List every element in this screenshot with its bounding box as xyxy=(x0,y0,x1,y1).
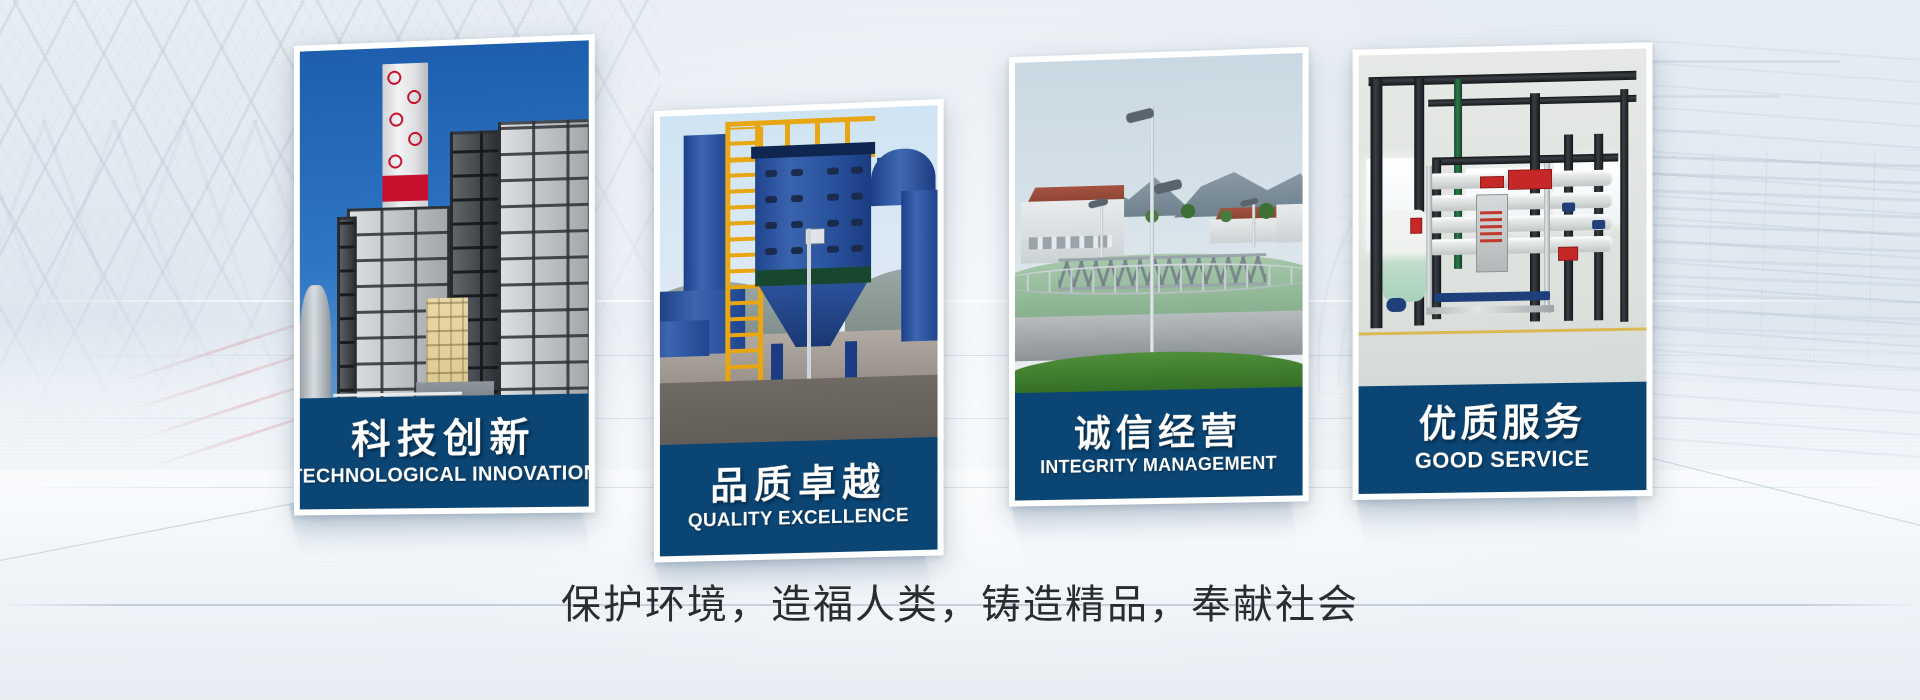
feature-panel-technological-innovation[interactable]: 科技创新 TECHNOLOGICAL INNOVATION xyxy=(294,34,595,515)
flue-tower-right xyxy=(498,119,589,417)
pulse-valve-12 xyxy=(851,219,863,226)
panel-caption-bar: 品质卓越 QUALITY EXCELLENCE xyxy=(660,437,938,557)
panel-title-cn: 优质服务 xyxy=(1419,403,1586,447)
panel-title-en: INTEGRITY MANAGEMENT xyxy=(1040,453,1277,477)
feature-panel-integrity-management[interactable]: 诚信经营 INTEGRITY MANAGEMENT xyxy=(1009,47,1309,507)
pipe-tag-red xyxy=(1558,246,1578,260)
feature-panel-quality-excellence[interactable]: 品质卓越 QUALITY EXCELLENCE xyxy=(654,99,944,563)
banner-tagline: 保护环境，造福人类，铸造精品，奉献社会 xyxy=(0,572,1920,630)
panel-caption-bar: 诚信经营 INTEGRITY MANAGEMENT xyxy=(1015,387,1303,501)
pulse-valve-16 xyxy=(851,245,863,252)
panel-title-en: QUALITY EXCELLENCE xyxy=(688,506,909,533)
baghouse-body xyxy=(755,142,871,286)
street-lamp-post-main xyxy=(1150,106,1154,368)
pulse-valve-6 xyxy=(791,195,803,202)
panel-caption-bar: 优质服务 GOOD SERVICE xyxy=(1359,382,1647,494)
panel-caption-bar: 科技创新 TECHNOLOGICAL INNOVATION xyxy=(300,394,589,510)
panel-title-en: GOOD SERVICE xyxy=(1415,447,1590,474)
pulse-valve-10 xyxy=(791,221,803,228)
vertical-pipe-far-left xyxy=(1371,79,1383,328)
pulse-valve-7 xyxy=(827,193,839,200)
pulse-valve-9 xyxy=(765,222,777,229)
panel-title-en: TECHNOLOGICAL INNOVATION xyxy=(300,462,589,488)
inlet-duct-horizontal xyxy=(660,320,710,358)
chimney-red-band xyxy=(382,174,428,201)
panel-image-frame: 品质卓越 QUALITY EXCELLENCE xyxy=(660,105,938,556)
inlet-duct-vertical xyxy=(684,134,728,303)
skid-frame-left-post xyxy=(1426,166,1432,316)
pulse-valve-15 xyxy=(827,246,839,253)
feature-panel-good-service[interactable]: 优质服务 GOOD SERVICE xyxy=(1353,42,1653,500)
street-lamp-post-far-1 xyxy=(1100,202,1103,258)
panel-title-cn: 诚信经营 xyxy=(1074,411,1243,454)
pulse-valve-14 xyxy=(791,247,803,254)
mast-pole xyxy=(807,229,811,385)
valve-handle-right-a xyxy=(1562,202,1575,211)
panel-image-frame: 诚信经营 INTEGRITY MANAGEMENT xyxy=(1015,53,1303,501)
pulse-valve-13 xyxy=(765,248,777,255)
panel-image-frame: 科技创新 TECHNOLOGICAL INNOVATION xyxy=(300,40,589,509)
pulse-valve-8 xyxy=(851,193,863,200)
pulse-valve-2 xyxy=(791,169,803,176)
tank-label xyxy=(1410,218,1422,234)
tree-line xyxy=(1134,190,1303,229)
pulse-valve-11 xyxy=(827,219,839,226)
pulse-valve-1 xyxy=(765,170,777,177)
panel-title-cn: 科技创新 xyxy=(351,416,536,462)
chimney-stack xyxy=(382,63,428,214)
pulse-valve-3 xyxy=(827,167,839,174)
warning-sign-large xyxy=(1508,169,1552,190)
pulse-valve-4 xyxy=(851,166,863,173)
vertical-pipe-far-right xyxy=(1620,89,1628,322)
pulse-valve-5 xyxy=(765,196,777,203)
panel-image-frame: 优质服务 GOOD SERVICE xyxy=(1359,48,1647,494)
plant-building xyxy=(1021,199,1124,264)
valve-handle-right-b xyxy=(1592,220,1605,229)
street-lamp-post-far-2 xyxy=(1252,201,1255,247)
feed-pump-1 xyxy=(1386,298,1406,312)
control-panel-indicators xyxy=(1480,210,1502,242)
warning-sign-small xyxy=(1480,176,1504,189)
outlet-duct-downcomer xyxy=(901,190,937,342)
panel-title-cn: 品质卓越 xyxy=(710,462,886,508)
banner-stage: 科技创新 TECHNOLOGICAL INNOVATION xyxy=(0,0,1920,700)
